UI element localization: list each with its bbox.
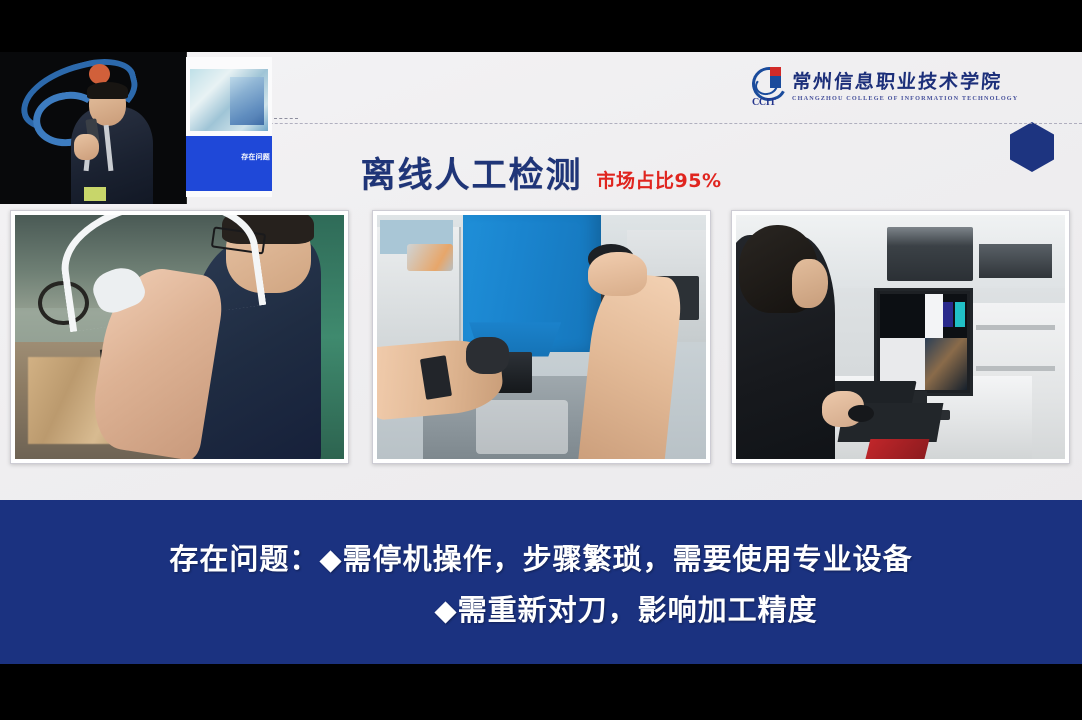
photo-row xyxy=(0,210,1082,470)
photo-manual-bench-inspection xyxy=(10,210,349,464)
photo-computer-inspection-workstation xyxy=(731,210,1070,464)
slide-thumbnail-preview: 存在问题 xyxy=(186,57,272,197)
problem-statement-band: 存在问题：◆需停机操作，步骤繁琐，需要使用专业设备 ◆需重新对刀，影响加工精度 xyxy=(0,500,1082,664)
photo-optical-measuring-machine xyxy=(372,210,711,464)
presenter-video-overlay xyxy=(0,52,187,204)
letterbox-top xyxy=(0,0,1082,52)
logo-abbrev-text: CCIT xyxy=(752,97,776,108)
letterbox-bottom xyxy=(0,664,1082,720)
presenter-badge xyxy=(84,187,106,201)
market-share-badge: 市场占比95% xyxy=(597,166,722,193)
thumbnail-divider xyxy=(274,118,298,119)
video-player-stage: CCIT 常州信息职业技术学院 CHANGZHOU COLLEGE OF INF… xyxy=(0,0,1082,720)
school-logo: CCIT 常州信息职业技术学院 CHANGZHOU COLLEGE OF INF… xyxy=(752,64,1000,112)
problem-line-2: ◆需重新对刀，影响加工精度 xyxy=(264,587,817,629)
ccit-logo-icon: CCIT xyxy=(752,67,786,109)
school-name-en: CHANGZHOU COLLEGE OF INFORMATION TECHNOL… xyxy=(792,96,1018,102)
school-name-cn: 常州信息职业技术学院 xyxy=(791,73,1019,92)
slide-title: 离线人工检测 xyxy=(361,147,583,198)
problem-line-1: 存在问题：◆需停机操作，步骤繁琐，需要使用专业设备 xyxy=(169,536,912,578)
thumbnail-band-label: 存在问题 xyxy=(241,152,270,162)
